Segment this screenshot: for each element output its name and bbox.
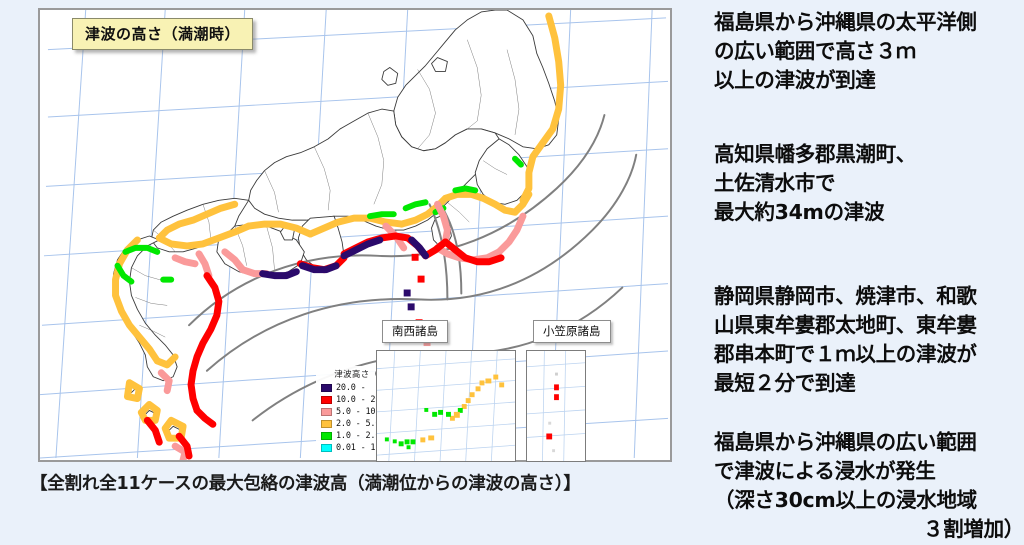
legend-label-0: 20.0 - xyxy=(336,383,366,393)
inset-canvas-ogasawara xyxy=(527,351,585,461)
note-line: （深さ30cm以上の浸水地域 xyxy=(714,486,1024,515)
note-block-pacific-3m: 福島県から沖縄県の太平洋側 の広い範囲で高さ３ｍ 以上の津波が到達 xyxy=(714,8,1024,95)
note-line: 最短２分で到達 xyxy=(714,369,1024,398)
legend-label-3: 2.0 - 5.0 xyxy=(336,419,380,429)
note-line: 福島県から沖縄県の太平洋側 xyxy=(714,8,1024,37)
note-line: の広い範囲で高さ３ｍ xyxy=(714,37,1024,66)
note-block-inundation: 福島県から沖縄県の広い範囲 で津波による浸水が発生 （深さ30cm以上の浸水地域… xyxy=(714,428,1024,544)
note-block-arrival-2min: 静岡県静岡市、焼津市、和歌 山県東牟婁郡太地町、東牟婁 郡串本町で１ｍ以上の津波… xyxy=(714,282,1024,398)
inset-grid-ogasawara xyxy=(527,351,585,461)
legend-swatch-0 xyxy=(321,384,332,392)
legend-swatch-2 xyxy=(321,408,332,416)
inset-map-nansei xyxy=(376,350,516,462)
note-line: 以上の津波が到達 xyxy=(714,66,1024,95)
legend-label-4: 1.0 - 2.0 xyxy=(336,431,380,441)
note-line: で津波による浸水が発生 xyxy=(714,457,1024,486)
inset-label-ogasawara: 小笠原諸島 xyxy=(533,320,611,343)
note-block-kochi-34m: 高知県幡多郡黒潮町、 土佐清水市で 最大約34mの津波 xyxy=(714,140,1024,227)
legend-swatch-5 xyxy=(321,444,332,452)
inset-map-ogasawara xyxy=(526,350,586,462)
legend-swatch-1 xyxy=(321,396,332,404)
inset-canvas-nansei xyxy=(377,351,515,461)
note-line: 静岡県静岡市、焼津市、和歌 xyxy=(714,282,1024,311)
note-line: 最大約34mの津波 xyxy=(714,198,1024,227)
map-title-callout: 津波の高さ（満潮時） xyxy=(72,18,253,50)
legend-swatch-3 xyxy=(321,420,332,428)
note-line: 福島県から沖縄県の広い範囲 xyxy=(714,428,1024,457)
note-line: ３割増加） xyxy=(714,515,1024,544)
inset-label-nansei: 南西諸島 xyxy=(382,320,448,343)
summary-notes: 福島県から沖縄県の太平洋側 の広い範囲で高さ３ｍ 以上の津波が到達 高知県幡多郡… xyxy=(714,0,1024,545)
inset-grid-nansei xyxy=(377,351,515,461)
note-line: 高知県幡多郡黒潮町、 xyxy=(714,140,1024,169)
figure-caption: 【全割れ全11ケースの最大包絡の津波高（満潮位からの津波の高さ）】 xyxy=(30,470,690,495)
legend-swatch-4 xyxy=(321,432,332,440)
note-line: 山県東牟婁郡太地町、東牟婁 xyxy=(714,311,1024,340)
note-line: 郡串本町で１ｍ以上の津波が xyxy=(714,340,1024,369)
note-line: 土佐清水市で xyxy=(714,169,1024,198)
